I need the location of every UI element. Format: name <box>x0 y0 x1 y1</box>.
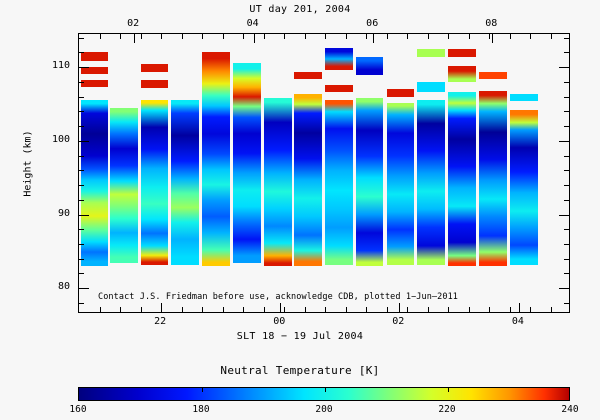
axis-tick <box>564 259 569 260</box>
axis-tick <box>79 126 84 127</box>
axis-tick <box>79 111 84 112</box>
axis-tick <box>407 307 408 312</box>
x-axis-top-tick-label: 06 <box>352 18 392 29</box>
axis-tick <box>510 307 511 312</box>
axis-tick <box>79 259 84 260</box>
heatmap-column-block <box>264 98 292 266</box>
axis-tick <box>79 38 84 39</box>
axis-tick <box>79 52 84 53</box>
x-axis-top-tick-label: 04 <box>233 18 273 29</box>
heatmap-column-block <box>356 57 384 75</box>
axis-tick <box>305 307 306 312</box>
axis-tick <box>284 307 285 312</box>
colorbar-title: Neutral Temperature [K] <box>0 364 600 377</box>
axis-tick <box>551 307 552 312</box>
colorbar-tick-label: 220 <box>427 404 467 415</box>
axis-tick <box>530 34 531 39</box>
axis-tick <box>428 34 429 39</box>
axis-tick <box>134 34 135 43</box>
x-axis-bottom-tick-label: 22 <box>140 316 180 327</box>
heatmap-column-block <box>448 66 476 82</box>
heatmap-column-block <box>233 63 261 263</box>
y-axis-label: Height (km) <box>23 114 34 214</box>
axis-tick <box>564 170 569 171</box>
axis-tick <box>79 67 89 68</box>
axis-tick <box>243 307 244 312</box>
heatmap-column-block <box>202 52 230 266</box>
heatmap-column-block <box>294 94 322 266</box>
heatmap-column-block <box>510 94 538 101</box>
axis-tick <box>407 34 408 39</box>
axis-tick <box>264 34 265 39</box>
axis-tick <box>79 303 84 304</box>
axis-tick <box>564 229 569 230</box>
heatmap-column-block <box>81 100 108 267</box>
axis-tick <box>264 307 265 312</box>
colorbar-gradient <box>79 388 569 400</box>
heatmap-column-block <box>448 49 476 56</box>
colorbar-tick-label: 160 <box>58 404 98 415</box>
axis-tick <box>387 307 388 312</box>
heatmap-column-block <box>417 49 445 56</box>
axis-tick <box>79 273 84 274</box>
axis-tick <box>161 303 162 312</box>
axis-tick <box>559 288 569 289</box>
heatmap-column-block <box>141 100 168 265</box>
axis-tick <box>564 244 569 245</box>
colorbar-tick <box>202 388 203 392</box>
colorbar-tick <box>448 388 449 392</box>
top-title: UT day 201, 2004 <box>0 4 600 15</box>
heatmap-column-block <box>110 108 138 263</box>
axis-tick <box>346 34 347 39</box>
axis-tick <box>559 141 569 142</box>
axis-tick <box>530 307 531 312</box>
axis-tick <box>564 97 569 98</box>
axis-tick <box>564 82 569 83</box>
axis-tick <box>141 34 142 39</box>
axis-tick <box>564 185 569 186</box>
axis-tick <box>202 307 203 312</box>
axis-tick <box>182 34 183 39</box>
axis-tick <box>305 34 306 39</box>
heatmap-column-block <box>387 103 415 265</box>
axis-tick <box>469 34 470 39</box>
axis-tick <box>564 38 569 39</box>
axis-tick <box>551 34 552 39</box>
heatmap-column-block <box>294 72 322 79</box>
heatmap-column-block <box>325 85 353 92</box>
axis-tick <box>564 52 569 53</box>
axis-tick <box>448 34 449 39</box>
axis-tick <box>284 34 285 39</box>
colorbar-tick-label: 180 <box>181 404 221 415</box>
heatmap-column-block <box>325 100 353 265</box>
axis-tick <box>564 111 569 112</box>
heatmap-column-block <box>479 72 507 79</box>
axis-tick <box>469 307 470 312</box>
axis-tick <box>79 97 84 98</box>
axis-tick <box>564 303 569 304</box>
axis-tick <box>120 34 121 39</box>
heatmap-column-block <box>479 91 507 266</box>
axis-tick <box>100 34 101 39</box>
x-axis-top-tick-label: 02 <box>113 18 153 29</box>
heatmap-column-block <box>81 52 108 61</box>
heatmap-column-block <box>81 80 108 87</box>
plot-credit-note: Contact J.S. Friedman before use, acknow… <box>98 292 458 302</box>
colorbar-tick-label: 200 <box>304 404 344 415</box>
axis-tick <box>325 34 326 39</box>
y-axis-tick-label: 110 <box>38 60 70 71</box>
axis-tick <box>366 34 367 39</box>
heatmap-column-block <box>141 64 168 71</box>
heatmap-column-block <box>510 110 538 265</box>
axis-tick <box>399 303 400 312</box>
axis-tick <box>428 307 429 312</box>
heatmap-column-block <box>356 98 384 266</box>
x-axis-bottom-tick-label: 04 <box>498 316 538 327</box>
axis-tick <box>161 34 162 39</box>
axis-tick <box>120 307 121 312</box>
axis-tick <box>79 185 84 186</box>
heatmap-column-block <box>171 100 199 265</box>
axis-tick <box>79 229 84 230</box>
axis-tick <box>564 273 569 274</box>
axis-tick <box>223 307 224 312</box>
heatmap-column-block <box>387 89 415 96</box>
axis-tick <box>489 307 490 312</box>
axis-tick <box>243 34 244 39</box>
axis-tick <box>346 307 347 312</box>
axis-tick <box>79 170 84 171</box>
axis-tick <box>79 288 89 289</box>
bottom-title: SLT 18 − 19 Jul 2004 <box>0 331 600 342</box>
axis-tick <box>373 34 374 43</box>
axis-tick <box>492 34 493 43</box>
y-axis-tick-label: 100 <box>38 134 70 145</box>
axis-tick <box>79 156 84 157</box>
axis-tick <box>564 126 569 127</box>
axis-tick <box>559 67 569 68</box>
axis-tick <box>79 215 89 216</box>
axis-tick <box>79 244 84 245</box>
figure-root: UT day 201, 2004 Height (km) 02040608220… <box>0 0 600 420</box>
axis-tick <box>223 34 224 39</box>
axis-tick <box>559 215 569 216</box>
axis-tick <box>100 307 101 312</box>
axis-tick <box>564 156 569 157</box>
heatmap-column-block <box>417 100 445 265</box>
axis-tick <box>202 34 203 39</box>
axis-tick <box>79 141 89 142</box>
axis-tick <box>280 303 281 312</box>
y-axis-tick-label: 90 <box>38 208 70 219</box>
heatmap-column-block <box>141 80 168 87</box>
heatmap-column-block <box>448 92 476 266</box>
axis-tick <box>510 34 511 39</box>
axis-tick <box>79 200 84 201</box>
colorbar-tick-label: 240 <box>550 404 590 415</box>
colorbar <box>78 387 570 401</box>
axis-tick <box>489 34 490 39</box>
axis-tick <box>254 34 255 43</box>
axis-tick <box>387 34 388 39</box>
axis-tick <box>141 307 142 312</box>
axis-tick <box>448 307 449 312</box>
x-axis-bottom-tick-label: 00 <box>259 316 299 327</box>
axis-tick <box>564 200 569 201</box>
heatmap-column-block <box>325 48 353 70</box>
axis-tick <box>182 307 183 312</box>
axis-tick <box>79 82 84 83</box>
axis-tick <box>366 307 367 312</box>
x-axis-bottom-tick-label: 02 <box>378 316 418 327</box>
plot-frame <box>78 33 570 313</box>
colorbar-tick <box>325 388 326 392</box>
axis-tick <box>325 307 326 312</box>
axis-tick <box>519 303 520 312</box>
y-axis-tick-label: 80 <box>38 281 70 292</box>
x-axis-top-tick-label: 08 <box>471 18 511 29</box>
heatmap-column-block <box>417 82 445 92</box>
heatmap-data-layer <box>79 34 569 312</box>
